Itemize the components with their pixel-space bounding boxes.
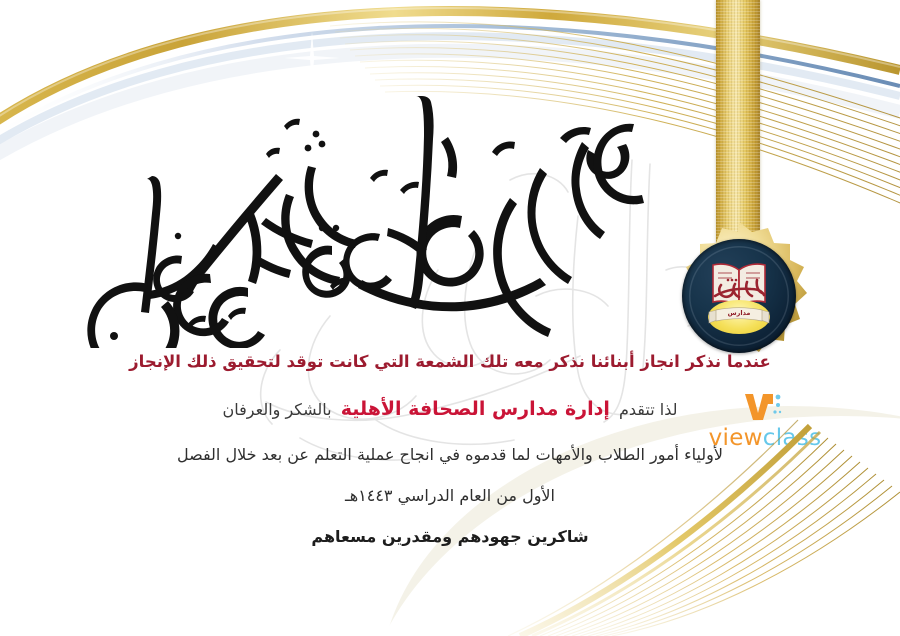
line-2-prefix: لذا تتقدم (619, 400, 677, 419)
certificate-line-4: الأول من العام الدراسي ١٤٤٣هـ (0, 486, 900, 505)
line-2-suffix: بالشكر والعرفان (223, 400, 332, 419)
medal-ribbon-text: مدارس (707, 310, 771, 317)
viewclass-logo: viewclass (700, 392, 830, 456)
gold-ribbon (716, 0, 760, 258)
viewclass-word-view: view (709, 425, 763, 451)
certificate-line-1: عندما نذكر انجاز أبنائنا نذكر معه تلك ال… (0, 352, 900, 372)
certificate-canvas: مدارس عندما نذكر انجاز أبنائنا نذكر معه … (0, 0, 900, 636)
certificate-line-5: شاكرين جهودهم ومقدرين مسعاهم (0, 527, 900, 546)
viewclass-word-class: class (763, 425, 822, 451)
viewclass-wordmark: viewclass (700, 425, 830, 451)
certificate-title (70, 78, 650, 348)
viewclass-v-mark-icon (742, 392, 788, 422)
line-2-emphasis: إدارة مدارس الصحافة الأهلية (337, 398, 614, 420)
